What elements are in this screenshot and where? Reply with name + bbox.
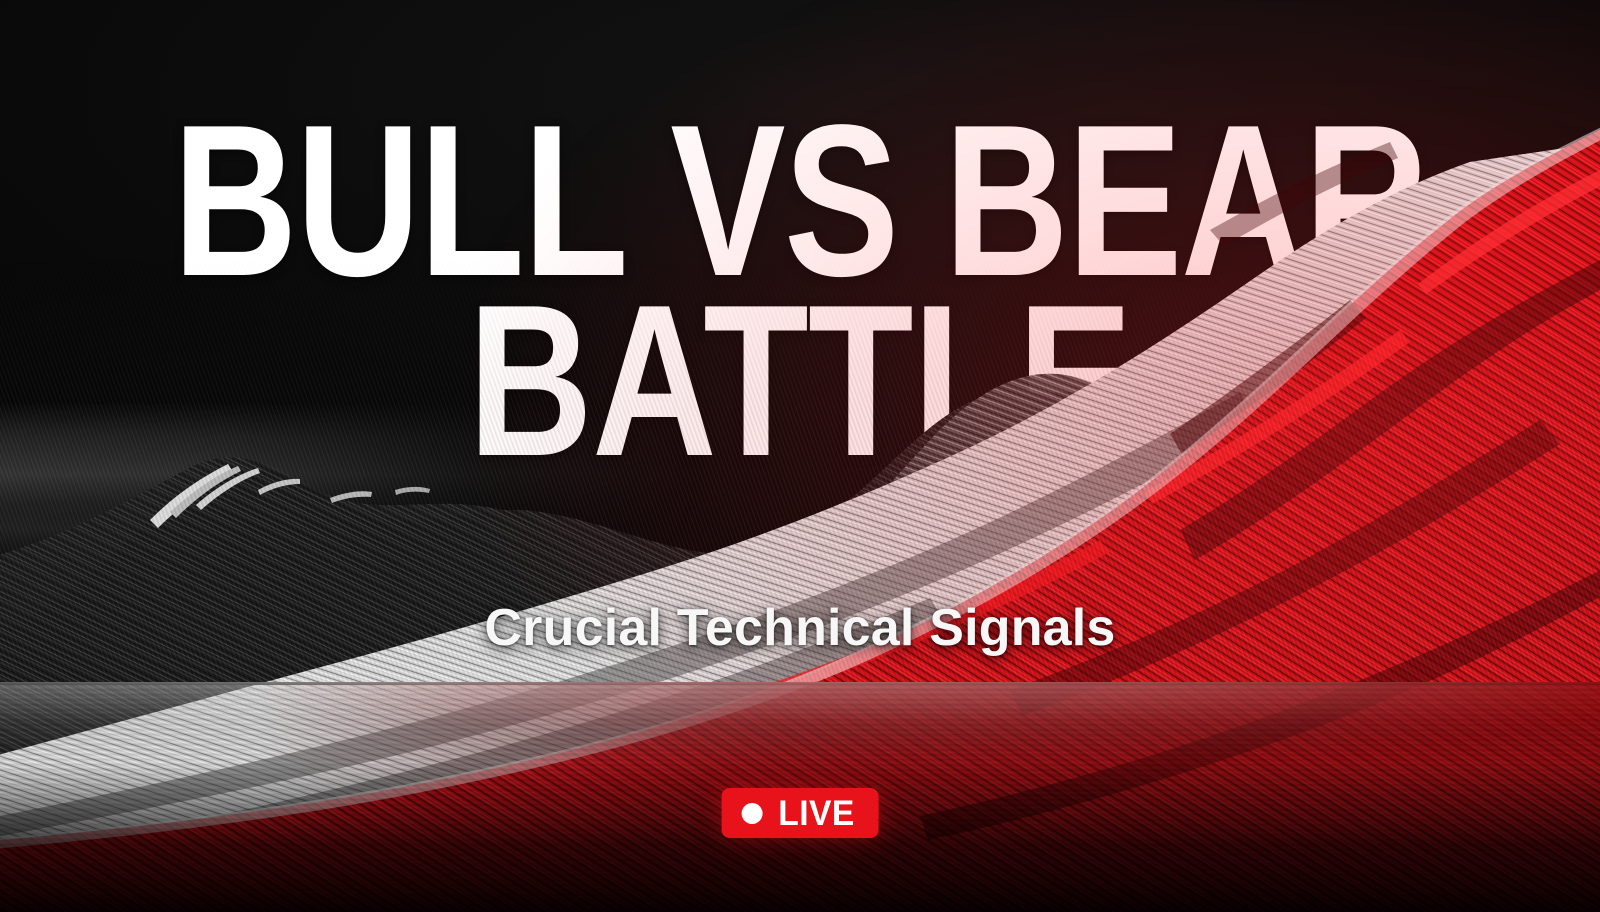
live-badge-label: LIVE <box>778 796 855 831</box>
live-dot-icon <box>742 803 763 824</box>
hero-banner: BULL VS BEAR BATTLE <box>0 0 1600 912</box>
hero-subtitle: Crucial Technical Signals <box>0 598 1600 658</box>
live-badge[interactable]: LIVE <box>722 788 879 838</box>
